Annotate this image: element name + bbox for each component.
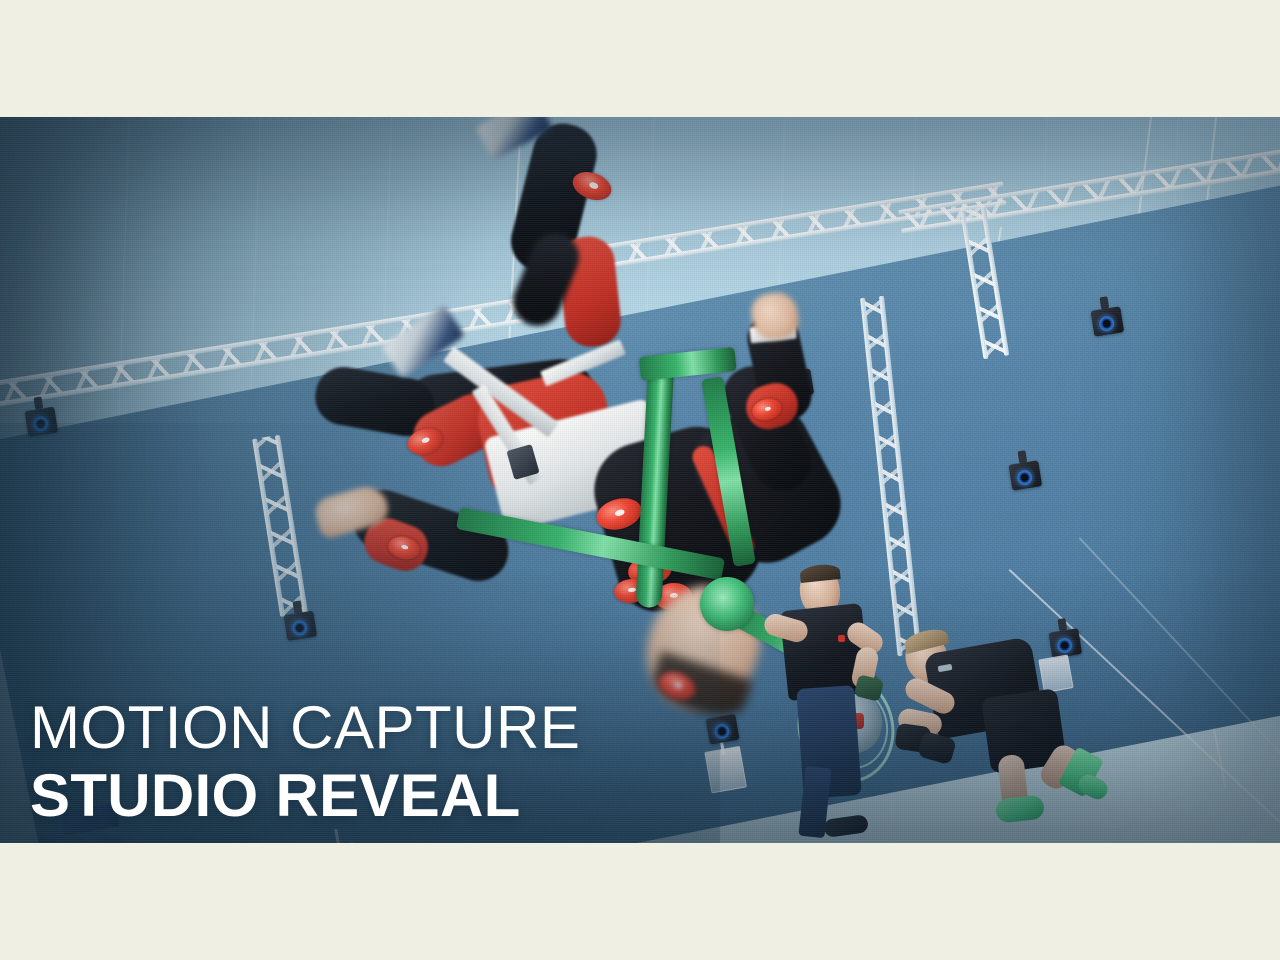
crew-shirt-logo [838,635,845,642]
green-rig-disc [700,577,754,631]
title-block: MOTION CAPTURE STUDIO REVEAL BY PLATIGE [30,695,580,843]
title-line-primary: MOTION CAPTURE [30,695,580,761]
page-root: MOTION CAPTURE STUDIO REVEAL BY PLATIGE [0,0,1280,960]
video-frame: MOTION CAPTURE STUDIO REVEAL BY PLATIGE [0,117,1280,843]
title-line-secondary: STUDIO REVEAL [30,763,580,829]
title-line-byline: BY PLATIGE [30,835,580,843]
